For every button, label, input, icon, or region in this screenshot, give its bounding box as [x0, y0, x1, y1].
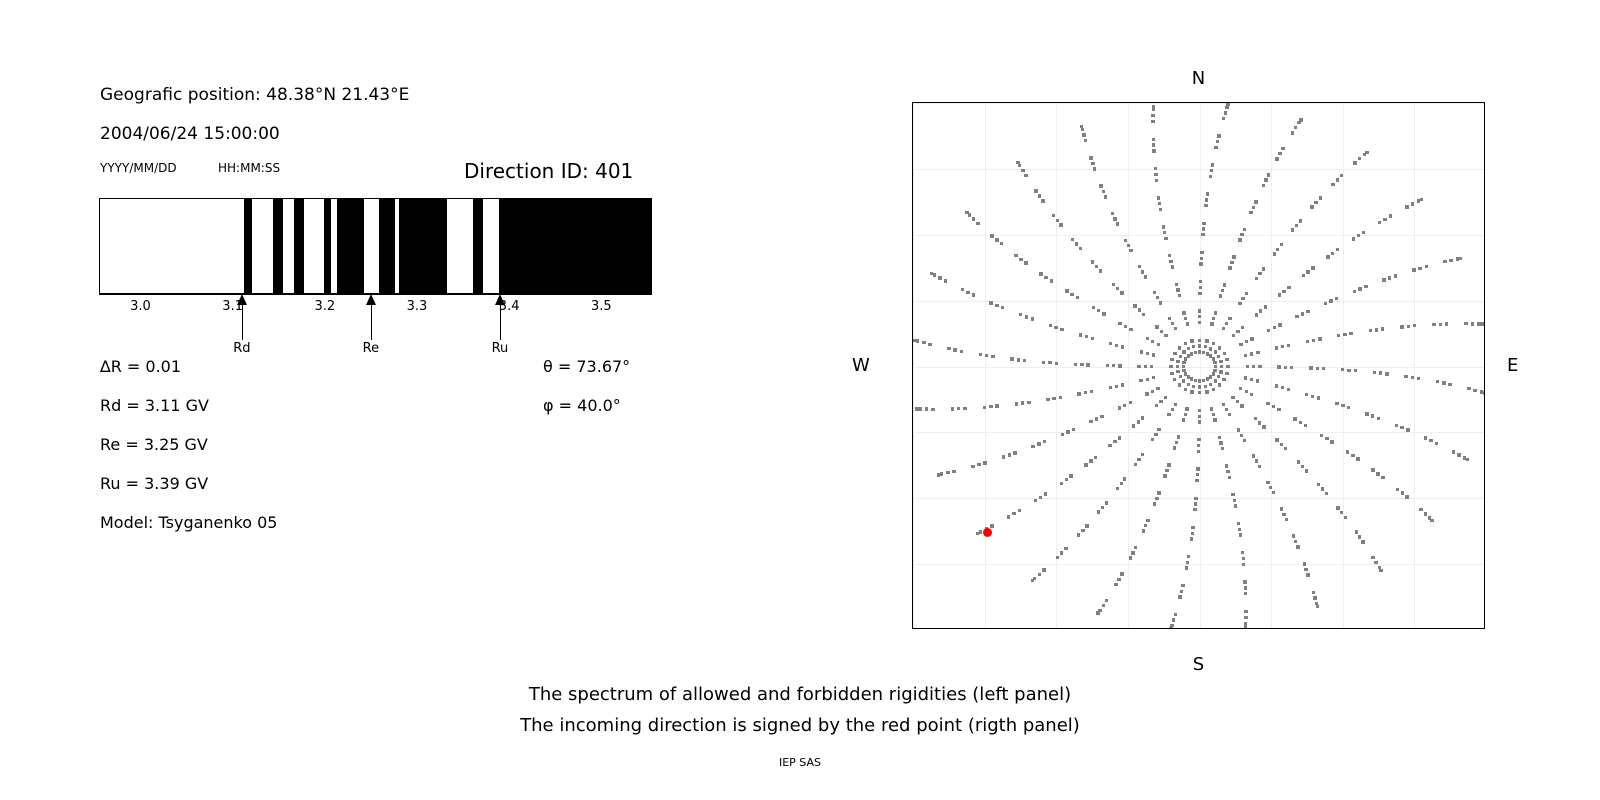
figure-caption: The spectrum of allowed and forbidden ri…	[0, 686, 1600, 748]
direction-dot	[1163, 231, 1166, 234]
direction-dot	[1217, 134, 1220, 137]
direction-dot	[1277, 365, 1280, 368]
direction-dot	[1404, 375, 1407, 378]
direction-dot	[1089, 420, 1092, 423]
direction-dot	[1077, 533, 1080, 536]
direction-dot	[1226, 103, 1229, 106]
direction-dot	[1301, 465, 1304, 468]
direction-dot	[1262, 184, 1265, 187]
direction-dot	[1321, 487, 1324, 490]
direction-dot	[1142, 313, 1145, 316]
direction-dot	[960, 350, 963, 353]
direction-dot	[1306, 310, 1309, 313]
gridline-vertical	[1056, 103, 1057, 628]
direction-dot	[1302, 274, 1305, 277]
direction-dot	[1023, 359, 1026, 362]
direction-dot	[1186, 561, 1189, 564]
direction-dot	[1473, 389, 1476, 392]
direction-dot	[1081, 529, 1084, 532]
direction-dot	[1024, 261, 1027, 264]
direction-dot	[1154, 173, 1157, 176]
direction-dot	[1129, 556, 1132, 559]
direction-dot	[961, 288, 964, 291]
direction-dot	[1046, 398, 1049, 401]
direction-dot	[1273, 326, 1276, 329]
direction-dot	[1157, 196, 1160, 199]
direction-dot	[1233, 499, 1236, 502]
direction-dot	[1383, 218, 1386, 221]
direction-dot	[1362, 231, 1365, 234]
direction-dot	[1209, 175, 1212, 178]
direction-dot	[1184, 342, 1187, 345]
direction-dot	[1031, 317, 1034, 320]
direction-dot	[1194, 502, 1197, 505]
direction-dot	[1272, 491, 1275, 494]
direction-dot	[1079, 333, 1082, 336]
direction-dot	[1175, 441, 1178, 444]
direction-dot	[1311, 395, 1314, 398]
direction-dot	[1316, 605, 1319, 608]
direction-dot	[1112, 283, 1115, 286]
direction-dot	[1146, 337, 1149, 340]
direction-dot	[1425, 265, 1428, 268]
direction-dot	[1280, 507, 1283, 510]
direction-dot	[1190, 377, 1193, 380]
direction-dot	[1044, 276, 1047, 279]
direction-dot	[1054, 326, 1057, 329]
direction-dot	[1173, 378, 1176, 381]
direction-dot	[1304, 424, 1307, 427]
direction-dot	[1093, 167, 1096, 170]
direction-dot	[983, 461, 986, 464]
direction-dot	[1234, 504, 1237, 507]
direction-dot	[1091, 162, 1094, 165]
direction-dot	[1292, 534, 1295, 537]
direction-dot	[1258, 365, 1261, 368]
direction-dot	[1066, 430, 1069, 433]
direction-dot	[1214, 350, 1217, 353]
direction-dot	[1244, 586, 1247, 589]
direction-dot	[1211, 163, 1214, 166]
direction-dot	[989, 301, 992, 304]
direction-dot	[1072, 428, 1075, 431]
direction-dot	[1085, 524, 1088, 527]
gridline-horizontal	[913, 432, 1484, 433]
direction-dot	[1244, 616, 1247, 619]
direction-dot	[1267, 329, 1270, 332]
direction-dot	[1483, 391, 1485, 394]
direction-dot	[1176, 288, 1179, 291]
direction-dot	[1151, 390, 1154, 393]
direction-dot	[1242, 563, 1245, 566]
direction-dot	[1222, 327, 1225, 330]
direction-dot	[1329, 299, 1332, 302]
direction-dot	[1059, 223, 1062, 226]
direction-dot	[1281, 345, 1284, 348]
direction-dot	[1013, 451, 1016, 454]
direction-dot	[1209, 375, 1212, 378]
direction-dot	[1294, 126, 1297, 129]
direction-dot	[1222, 378, 1225, 381]
direction-dot	[1273, 252, 1276, 255]
direction-dot	[1198, 344, 1201, 347]
direction-dot	[1344, 516, 1347, 519]
selected-direction-point[interactable]	[983, 528, 992, 537]
direction-dot	[1291, 228, 1294, 231]
direction-dot	[1388, 276, 1391, 279]
direction-dot	[979, 530, 982, 533]
direction-dot	[1266, 402, 1269, 405]
direction-dot	[1106, 364, 1109, 367]
direction-dot	[1153, 291, 1156, 294]
direction-dot	[1232, 334, 1235, 337]
direction-dot	[1287, 286, 1290, 289]
direction-dot	[1358, 157, 1361, 160]
direction-dot	[1242, 557, 1245, 560]
direction-dot	[1169, 627, 1172, 629]
direction-dot	[1137, 458, 1140, 461]
direction-dot	[990, 524, 993, 527]
direction-dot	[1346, 450, 1349, 453]
direction-dot	[1459, 257, 1462, 260]
direction-dot	[1336, 178, 1339, 181]
direction-dot	[1225, 106, 1228, 109]
direction-dot	[1331, 252, 1334, 255]
direction-dot	[1187, 555, 1190, 558]
direction-dot	[1095, 265, 1098, 268]
spectrum-tick-label: 3.5	[591, 300, 612, 313]
direction-dot	[1225, 322, 1228, 325]
direction-dot	[1295, 315, 1298, 318]
direction-dot	[1314, 201, 1317, 204]
direction-dot	[1364, 285, 1367, 288]
direction-dot	[976, 532, 979, 535]
direction-dot	[966, 291, 969, 294]
direction-dot	[1223, 352, 1226, 355]
direction-dot	[1184, 372, 1187, 375]
direction-dot	[1192, 385, 1195, 388]
direction-dot	[1249, 211, 1252, 214]
direction-dot	[1204, 385, 1207, 388]
direction-dot	[1306, 573, 1309, 576]
direction-dot	[1221, 289, 1224, 292]
direction-dot	[1436, 380, 1439, 383]
direction-dot	[1168, 254, 1171, 257]
direction-dot	[1178, 383, 1181, 386]
direction-dot	[1120, 482, 1123, 485]
direction-dot	[1179, 355, 1182, 358]
direction-dot	[1354, 369, 1357, 372]
direction-dot	[1049, 324, 1052, 327]
direction-dot	[1205, 198, 1208, 201]
direction-dot	[1146, 519, 1149, 522]
direction-dot	[1343, 333, 1346, 336]
direction-dot	[1065, 289, 1068, 292]
direction-dot	[1038, 194, 1041, 197]
direction-dot	[1199, 280, 1202, 283]
direction-dot	[1153, 502, 1156, 505]
direction-dot	[1000, 242, 1003, 245]
direction-dot	[1312, 339, 1315, 342]
direction-dot	[1374, 561, 1377, 564]
direction-dot	[1219, 360, 1222, 363]
direction-dot	[1084, 463, 1087, 466]
direction-dot	[1325, 492, 1328, 495]
direction-dot	[925, 407, 928, 410]
direction-dot	[1174, 403, 1177, 406]
direction-dot	[995, 238, 998, 241]
direction-dot	[1176, 370, 1179, 373]
param-model: Model: Tsyganenko 05	[100, 515, 277, 531]
gridline-horizontal	[913, 367, 1484, 368]
direction-dot	[1254, 200, 1257, 203]
direction-dot	[1198, 321, 1201, 324]
direction-dot	[1056, 219, 1059, 222]
direction-dot	[1085, 335, 1088, 338]
direction-dot	[1042, 568, 1045, 571]
direction-dot	[1079, 247, 1082, 250]
direction-dot	[1200, 257, 1203, 260]
direction-dot	[1198, 339, 1201, 342]
direction-dot	[1452, 450, 1455, 453]
direction-dot	[1031, 579, 1034, 582]
direction-dot	[1002, 455, 1005, 458]
direction-dot	[1131, 551, 1134, 554]
direction-dot	[965, 211, 968, 214]
direction-dot	[1198, 309, 1201, 312]
direction-dot	[1008, 453, 1011, 456]
direction-dot	[1209, 347, 1212, 350]
direction-dot	[1089, 156, 1092, 159]
direction-dot	[1325, 437, 1328, 440]
direction-dot	[913, 339, 916, 342]
direction-dot	[1157, 343, 1160, 346]
direction-dot	[1134, 546, 1137, 549]
direction-dot	[1220, 365, 1223, 368]
direction-dot	[1031, 445, 1034, 448]
direction-dot	[1198, 292, 1201, 295]
direction-dot	[1154, 433, 1157, 436]
direction-dot	[1194, 351, 1197, 354]
direction-dot	[1210, 322, 1213, 325]
direction-dot	[1239, 533, 1242, 536]
direction-dot	[1222, 117, 1225, 120]
direction-dot	[1155, 325, 1158, 328]
direction-dot	[983, 406, 986, 409]
direction-dot	[1305, 393, 1308, 396]
direction-dot	[1378, 221, 1381, 224]
direction-dot	[1145, 392, 1148, 395]
direction-dot	[1255, 459, 1258, 462]
direction-dot	[1162, 225, 1165, 228]
direction-dot	[1299, 219, 1302, 222]
direction-dot	[1349, 332, 1352, 335]
direction-dot	[1407, 325, 1410, 328]
gridline-vertical	[985, 103, 986, 628]
direction-dot	[1430, 519, 1433, 522]
direction-dot	[1336, 248, 1339, 251]
direction-dot	[1254, 417, 1257, 420]
marker-label: Rd	[233, 342, 250, 355]
direction-dot	[1445, 322, 1448, 325]
direction-dot	[1231, 396, 1234, 399]
direction-dot	[1099, 184, 1102, 187]
direction-dot	[1115, 385, 1118, 388]
direction-dot	[1076, 296, 1079, 299]
direction-dot	[1293, 417, 1296, 420]
direction-dot	[1204, 204, 1207, 207]
x-tick-mark	[1414, 628, 1415, 629]
direction-dot	[1019, 313, 1022, 316]
direction-dot	[1442, 381, 1445, 384]
direction-dot	[1210, 407, 1213, 410]
direction-dot	[1118, 436, 1121, 439]
direction-dot	[1291, 131, 1294, 134]
direction-dot	[1014, 254, 1017, 257]
direction-dot	[1146, 352, 1149, 355]
direction-dot	[1218, 346, 1221, 349]
direction-dot	[1373, 371, 1376, 374]
direction-dot	[989, 405, 992, 408]
direction-dot	[1400, 325, 1403, 328]
direction-dot	[1369, 329, 1372, 332]
direction-dot	[1198, 315, 1201, 318]
direction-dot	[1258, 465, 1261, 468]
direction-dot	[1159, 400, 1162, 403]
direction-dot	[1266, 481, 1269, 484]
direction-dot	[1198, 391, 1201, 394]
param-rd: Rd = 3.11 GV	[100, 398, 209, 414]
direction-dot	[1112, 364, 1115, 367]
direction-dot	[1141, 416, 1144, 419]
direction-dot	[1219, 441, 1222, 444]
direction-dot	[1245, 340, 1248, 343]
caption-line-1: The spectrum of allowed and forbidden ri…	[0, 686, 1600, 704]
direction-dot	[1172, 618, 1175, 621]
marker-shaft	[500, 302, 501, 340]
direction-dot	[1252, 206, 1255, 209]
direction-dot	[1137, 365, 1140, 368]
direction-dot	[1173, 352, 1176, 355]
direction-dot	[1138, 265, 1141, 268]
direction-dot	[1102, 190, 1105, 193]
direction-dot	[1206, 377, 1209, 380]
direction-dot	[1102, 604, 1105, 607]
direction-dot	[1198, 415, 1201, 418]
direction-dot	[1241, 297, 1244, 300]
direction-dot	[1269, 486, 1272, 489]
direction-dot	[1240, 404, 1243, 407]
direction-dot	[1219, 370, 1222, 373]
direction-dot	[1121, 383, 1124, 386]
direction-dot	[1466, 458, 1469, 461]
direction-dot	[1252, 365, 1255, 368]
direction-dot	[1091, 260, 1094, 263]
direction-dot	[1204, 345, 1207, 348]
direction-dot	[1141, 270, 1144, 273]
direction-dot	[1124, 239, 1127, 242]
direction-dot	[995, 304, 998, 307]
direction-dot	[1335, 297, 1338, 300]
direction-dot	[1467, 387, 1470, 390]
direction-dot	[1231, 493, 1234, 496]
direction-dot	[1267, 173, 1270, 176]
direction-dot	[1175, 283, 1178, 286]
direction-dot	[1205, 339, 1208, 342]
direction-dot	[1226, 470, 1229, 473]
direction-dot	[1132, 424, 1135, 427]
direction-dot	[1170, 372, 1173, 375]
direction-dot	[1034, 499, 1037, 502]
direction-dot	[1222, 403, 1225, 406]
x-tick-mark	[1128, 628, 1129, 629]
compass-north-label: N	[912, 70, 1485, 88]
caption-line-2: The incoming direction is signed by the …	[0, 717, 1600, 735]
direction-dot	[1084, 391, 1087, 394]
direction-dot	[1278, 323, 1281, 326]
direction-dot	[1264, 178, 1267, 181]
forbidden-band	[399, 199, 442, 293]
forbidden-band	[244, 199, 252, 293]
direction-dot	[1357, 234, 1360, 237]
direction-dot	[1017, 358, 1020, 361]
direction-dot	[1216, 140, 1219, 143]
direction-dot	[937, 473, 940, 476]
gridline-horizontal	[913, 301, 1484, 302]
direction-dot	[951, 407, 954, 410]
direction-dot	[1347, 369, 1350, 372]
direction-dot	[1196, 473, 1199, 476]
direction-dot	[1218, 436, 1221, 439]
spectrum-marker-ru: Ru	[500, 294, 501, 340]
compass-west-label: W	[852, 102, 870, 629]
direction-dot	[1151, 340, 1154, 343]
direction-dot	[1282, 290, 1285, 293]
direction-dot	[1275, 346, 1278, 349]
direction-dot	[1205, 390, 1208, 393]
direction-dot	[1139, 379, 1142, 382]
direction-dot	[1056, 556, 1059, 559]
direction-dot	[1198, 420, 1201, 423]
direction-dot	[1163, 474, 1166, 477]
direction-dot	[985, 354, 988, 357]
direction-dot	[1241, 551, 1244, 554]
direction-dot	[952, 470, 955, 473]
direction-dot	[1174, 327, 1177, 330]
direction-dot	[1282, 513, 1285, 516]
direction-dot	[1080, 125, 1083, 128]
y-tick-mark	[912, 498, 913, 499]
gridline-horizontal	[913, 103, 1484, 104]
direction-dot	[946, 471, 949, 474]
direction-dot	[922, 341, 925, 344]
direction-dot	[1197, 438, 1200, 441]
direction-dot	[1217, 355, 1220, 358]
direction-dot	[1190, 390, 1193, 393]
direction-dot	[1118, 406, 1121, 409]
direction-dot	[1351, 454, 1354, 457]
direction-dot	[1224, 111, 1227, 114]
direction-dot	[1239, 387, 1242, 390]
direction-dot	[1133, 304, 1136, 307]
direction-dot	[1178, 346, 1181, 349]
direction-dot	[1167, 463, 1170, 466]
direction-dot	[1179, 375, 1182, 378]
direction-dot	[1042, 361, 1045, 364]
direction-dot	[1124, 325, 1127, 328]
direction-dot	[1256, 379, 1259, 382]
direction-dot	[1250, 337, 1253, 340]
